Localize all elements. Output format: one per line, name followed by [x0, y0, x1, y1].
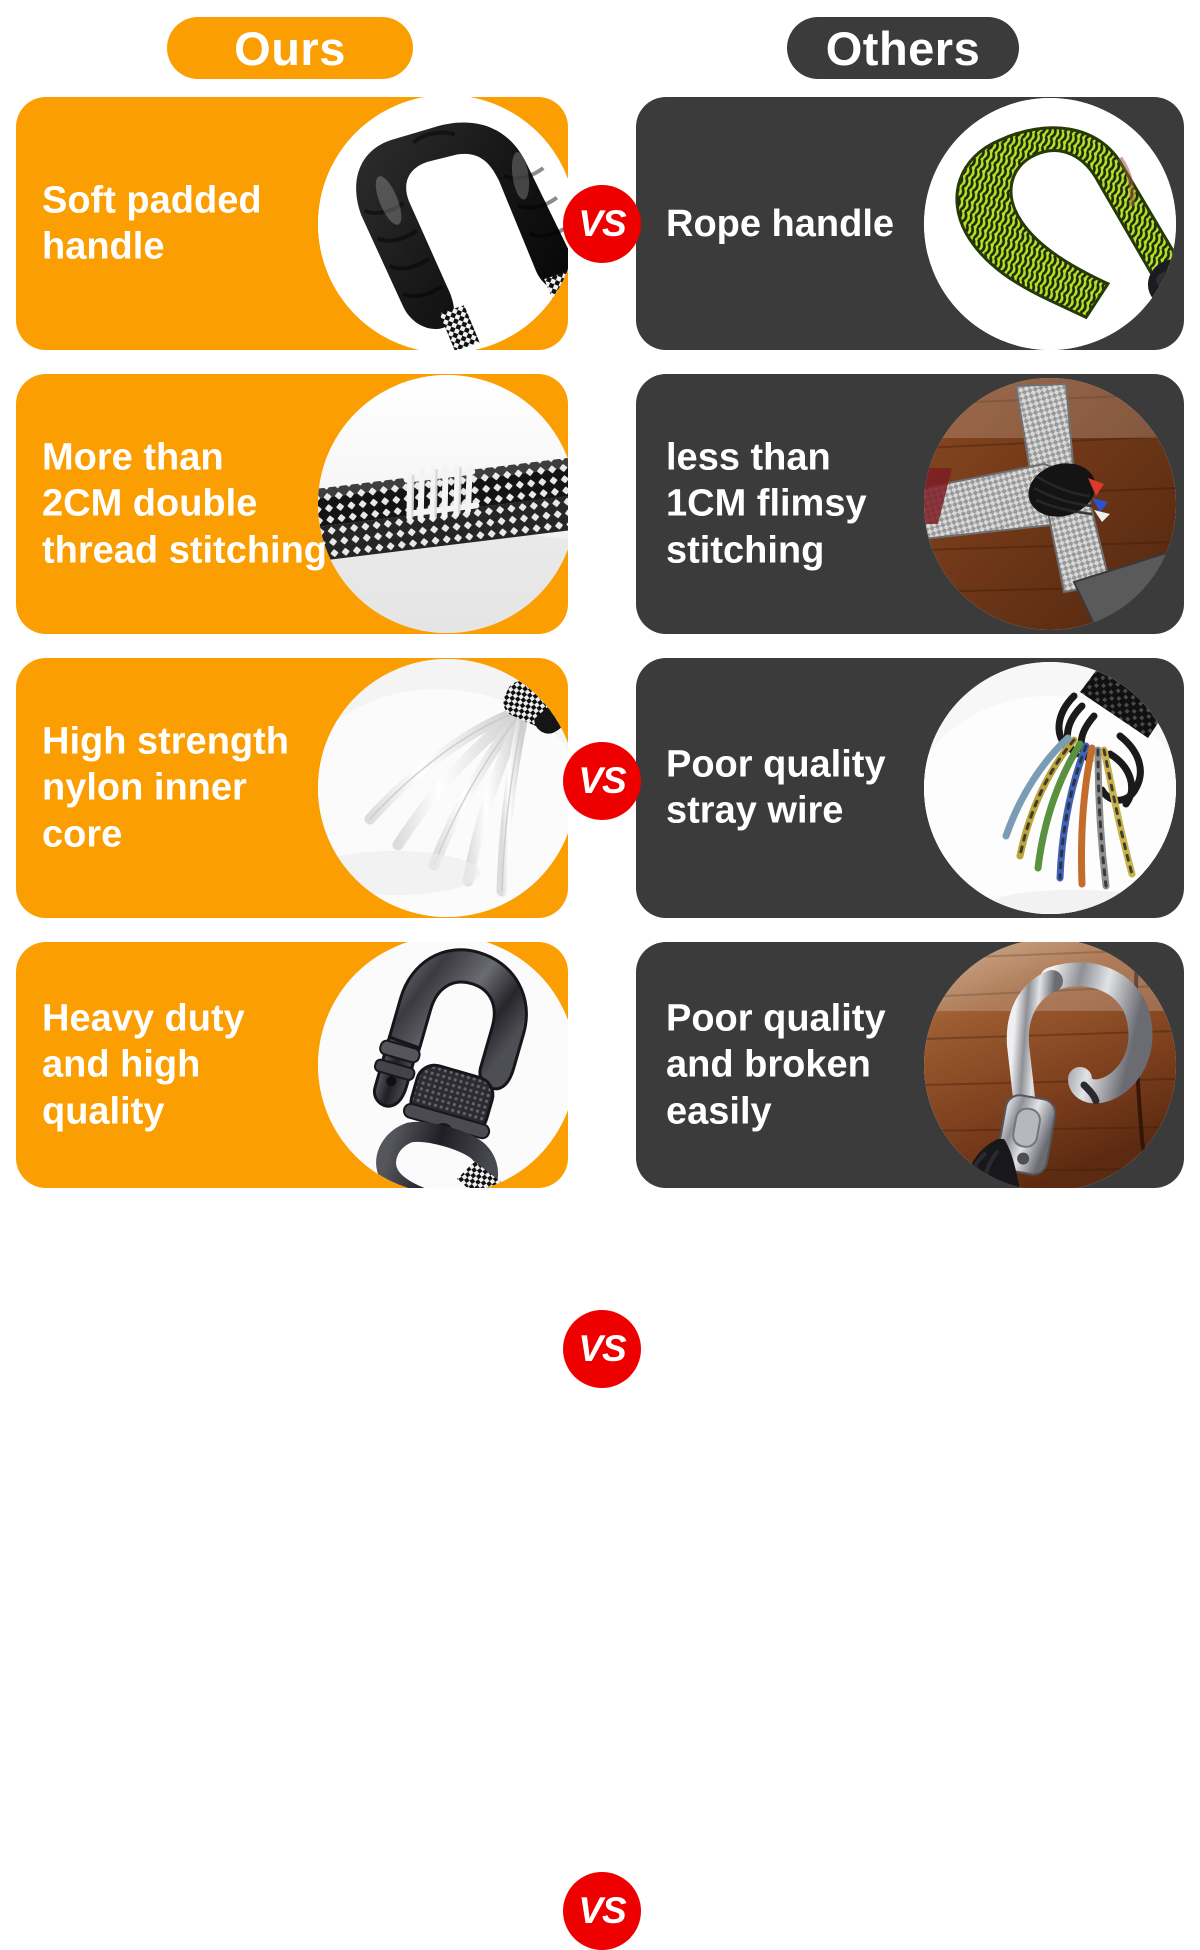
- ours-card-1: Soft padded handle: [16, 97, 568, 350]
- header-pill-others: Others: [787, 17, 1019, 79]
- padded-handle-photo: [318, 97, 568, 350]
- vs-label: VS: [578, 1890, 625, 1932]
- header-pill-ours: Ours: [167, 17, 413, 79]
- comparison-row: Soft padded handle: [0, 97, 1200, 362]
- vs-label: VS: [578, 203, 625, 245]
- header-label-ours: Ours: [234, 25, 346, 72]
- others-feature-text-4: Poor quality and broken easily: [666, 995, 966, 1134]
- others-card-4: Poor quality and broken easily: [636, 942, 1184, 1188]
- header-row: Ours Others: [0, 0, 1200, 97]
- others-feature-text-2: less than 1CM flimsy stitching: [666, 434, 966, 573]
- comparison-row: Heavy duty and high quality: [0, 942, 1200, 1200]
- comparison-row: More than 2CM double thread stitching: [0, 374, 1200, 646]
- ours-card-2: More than 2CM double thread stitching: [16, 374, 568, 634]
- ours-feature-text-4: Heavy duty and high quality: [42, 995, 342, 1134]
- double-thread-stitching-photo: [318, 375, 568, 633]
- header-label-others: Others: [826, 25, 981, 72]
- ours-card-4: Heavy duty and high quality: [16, 942, 568, 1188]
- others-feature-text-1: Rope handle: [666, 200, 966, 246]
- nylon-inner-core-photo: [318, 659, 568, 917]
- ours-feature-text-1: Soft padded handle: [42, 177, 342, 270]
- others-feature-text-3: Poor quality stray wire: [666, 742, 966, 835]
- others-card-1: Rope handle: [636, 97, 1184, 350]
- vs-badge: VS: [563, 742, 641, 820]
- ours-feature-text-3: High strength nylon inner core: [42, 718, 342, 857]
- ours-feature-text-2: More than 2CM double thread stitching: [42, 434, 342, 573]
- vs-badge: VS: [563, 1310, 641, 1388]
- others-card-3: Poor quality stray wire: [636, 658, 1184, 918]
- vs-badge: VS: [563, 185, 641, 263]
- heavy-duty-clasp-photo: [318, 942, 568, 1188]
- vs-badge: VS: [563, 1872, 641, 1950]
- ours-card-3: High strength nylon inner core: [16, 658, 568, 918]
- vs-label: VS: [578, 760, 625, 802]
- comparison-grid: Soft padded handle: [0, 97, 1200, 1200]
- others-card-2: less than 1CM flimsy stitching: [636, 374, 1184, 634]
- vs-label: VS: [578, 1328, 625, 1370]
